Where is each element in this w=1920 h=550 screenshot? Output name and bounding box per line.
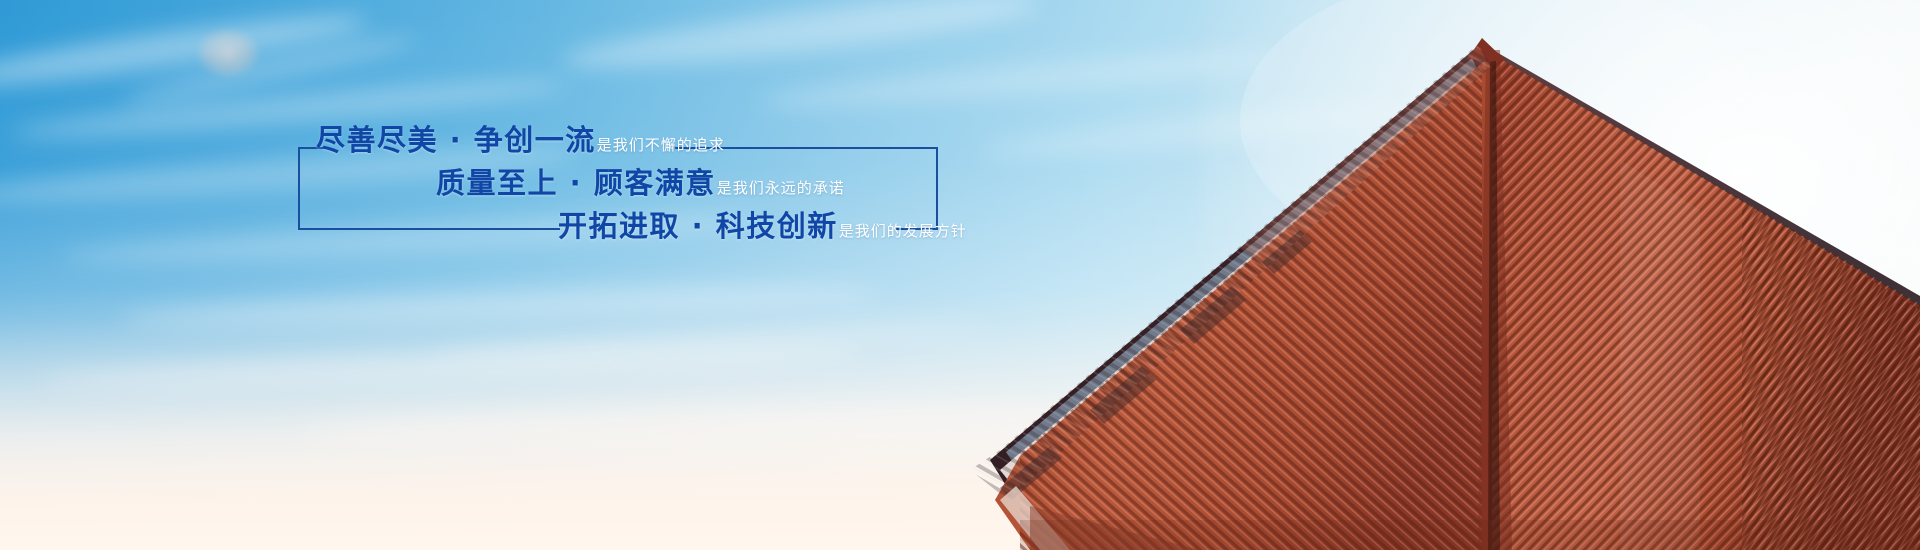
slogan-1-sub: 是我们不懈的追求 <box>597 136 725 154</box>
slogan-line-1: 尽善尽美 · 争创一流是我们不懈的追求 <box>316 126 725 155</box>
slogan-line-2: 质量至上 · 顾客满意是我们永远的承诺 <box>436 169 845 198</box>
slogan-group: 尽善尽美 · 争创一流是我们不懈的追求 质量至上 · 顾客满意是我们永远的承诺 … <box>298 126 958 254</box>
slogan-3-main: 开拓进取 · 科技创新 <box>558 209 838 243</box>
slogan-2-main: 质量至上 · 顾客满意 <box>436 166 716 200</box>
hero-banner: 尽善尽美 · 争创一流是我们不懈的追求 质量至上 · 顾客满意是我们永远的承诺 … <box>0 0 1920 550</box>
slogan-3-sub: 是我们的发展方针 <box>839 222 967 240</box>
slogan-line-3: 开拓进取 · 科技创新是我们的发展方针 <box>558 212 967 241</box>
horizon-haze <box>0 290 1920 550</box>
slogan-1-main: 尽善尽美 · 争创一流 <box>316 123 596 157</box>
slogan-2-sub: 是我们永远的承诺 <box>717 179 845 197</box>
